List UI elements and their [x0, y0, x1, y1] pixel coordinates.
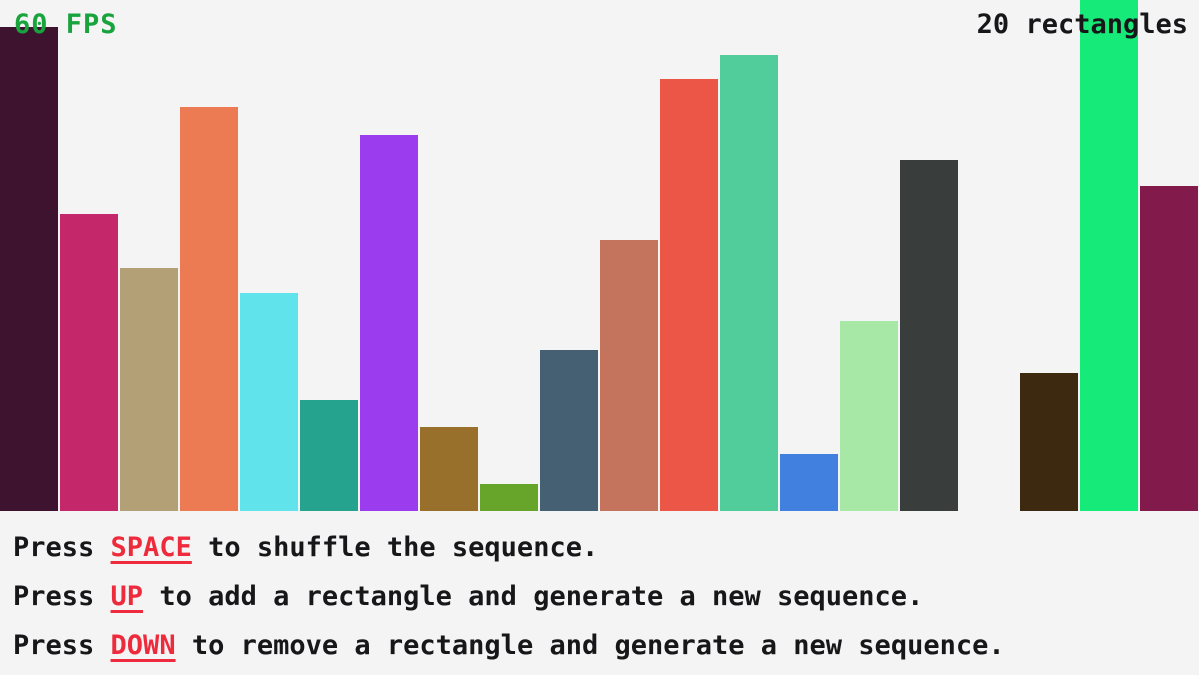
bar-7-purple [360, 135, 418, 511]
bar-3-tan [120, 268, 178, 511]
bar-5-cyan [240, 293, 298, 511]
bar-11-rosy-brown [600, 240, 658, 511]
bar-20-maroon [1140, 186, 1198, 511]
bar-9-olive-green [480, 484, 538, 511]
instruction-prefix: Press [13, 630, 111, 661]
bar-18-dark-brown [1020, 373, 1078, 511]
instruction-suffix: to add a rectangle and generate a new se… [143, 581, 923, 612]
bar-2-magenta [60, 214, 118, 511]
bar-16-charcoal [900, 160, 958, 511]
instruction-prefix: Press [13, 532, 111, 563]
instruction-prefix: Press [13, 581, 111, 612]
key-hint-down[interactable]: DOWN [111, 630, 176, 661]
fps-counter: 60 FPS [14, 11, 118, 38]
key-hint-space[interactable]: SPACE [111, 532, 192, 563]
bar-6-teal [300, 400, 358, 511]
instruction-line-3: Press DOWN to remove a rectangle and gen… [13, 621, 1199, 670]
key-hint-up[interactable]: UP [111, 581, 144, 612]
instruction-line-2: Press UP to add a rectangle and generate… [13, 572, 1199, 621]
instruction-suffix: to remove a rectangle and generate a new… [176, 630, 1005, 661]
instructions-panel: Press SPACE to shuffle the sequence.Pres… [0, 511, 1199, 675]
rectangle-sequence-chart[interactable] [0, 0, 1199, 511]
bar-14-royal-blue [780, 454, 838, 511]
bar-15-light-green [840, 321, 898, 511]
instruction-line-1: Press SPACE to shuffle the sequence. [13, 523, 1199, 572]
bar-12-red [660, 79, 718, 511]
app-canvas: 60 FPS 20 rectangles Press SPACE to shuf… [0, 0, 1199, 675]
bar-10-slate-blue [540, 350, 598, 511]
bar-8-brown [420, 427, 478, 511]
bar-19-bright-green [1080, 0, 1138, 511]
bar-13-emerald [720, 55, 778, 511]
bar-1-dark-plum [0, 27, 58, 511]
rectangle-count-label: 20 rectangles [977, 11, 1188, 38]
instruction-suffix: to shuffle the sequence. [192, 532, 598, 563]
bar-4-coral-orange [180, 107, 238, 511]
